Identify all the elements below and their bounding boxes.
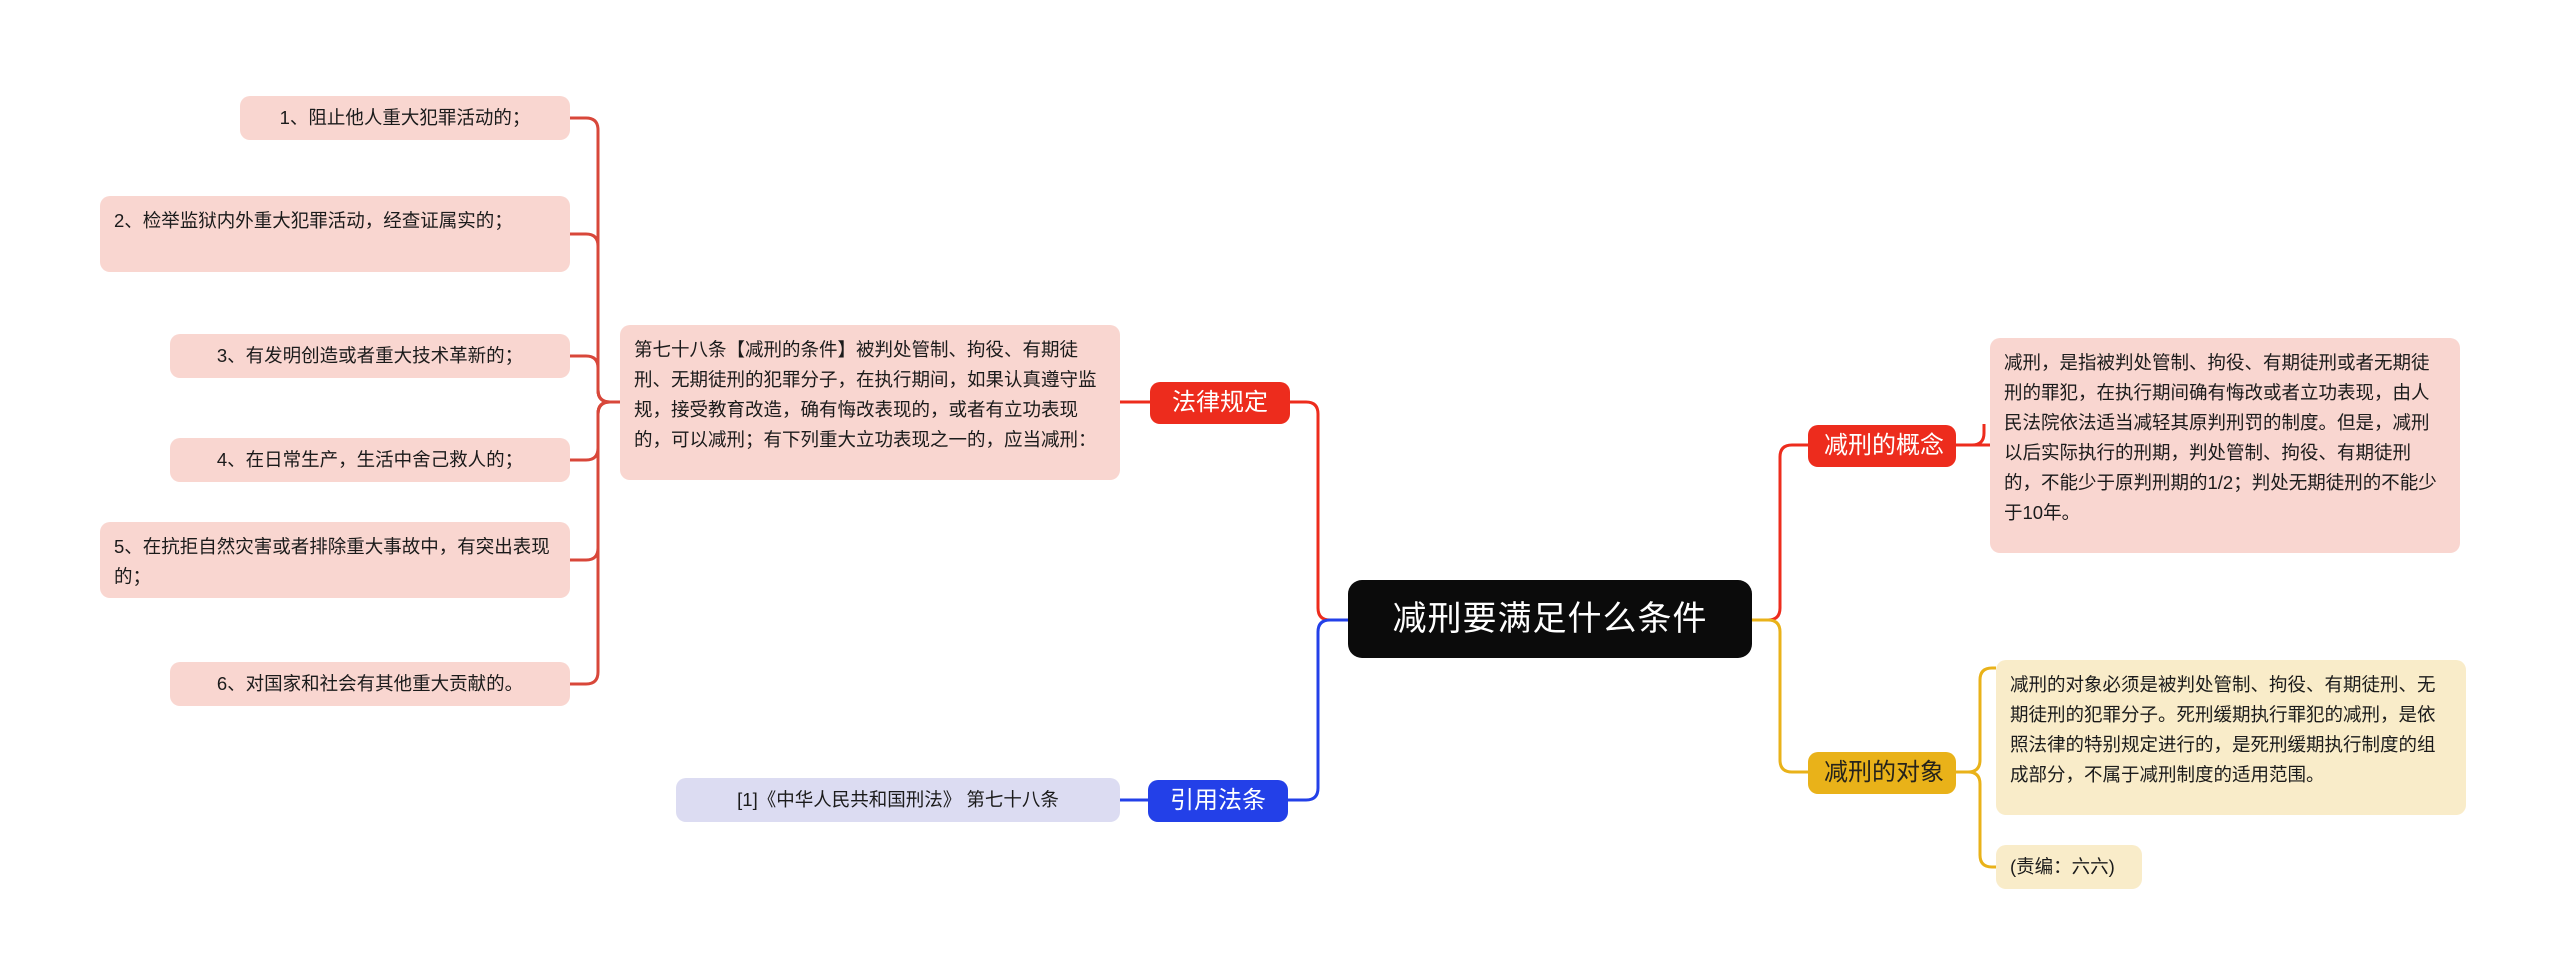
merit-item-5[interactable]: 5、在抗拒自然灾害或者排除重大事故中，有突出表现的； bbox=[100, 522, 570, 598]
citation-item-box[interactable]: [1]《中华人民共和国刑法》 第七十八条 bbox=[676, 778, 1120, 822]
branch-object[interactable]: 减刑的对象 bbox=[1808, 752, 1956, 794]
branch-law-rules-label: 法律规定 bbox=[1166, 387, 1274, 419]
edge-root-to-object bbox=[1752, 620, 1808, 772]
editor-note-text: (责编：六六) bbox=[2010, 852, 2128, 882]
edge-concept-to-concept-text bbox=[1955, 424, 1984, 445]
merit-item-3[interactable]: 3、有发明创造或者重大技术革新的； bbox=[170, 334, 570, 378]
branch-law-rules[interactable]: 法律规定 bbox=[1150, 382, 1290, 424]
branch-concept[interactable]: 减刑的概念 bbox=[1808, 425, 1956, 467]
edge-root-to-concept bbox=[1752, 445, 1808, 620]
merit-item-5-text: 5、在抗拒自然灾害或者排除重大事故中，有突出表现的； bbox=[114, 532, 556, 592]
edge-object-to-object-text bbox=[1955, 668, 1996, 772]
root-node[interactable]: 减刑要满足什么条件 bbox=[1348, 580, 1752, 658]
object-text: 减刑的对象必须是被判处管制、拘役、有期徒刑、无期徒刑的犯罪分子。死刑缓期执行罪犯… bbox=[2010, 670, 2452, 790]
merit-item-2-text: 2、检举监狱内外重大犯罪活动，经查证属实的； bbox=[114, 206, 556, 236]
edge-article-to-merit-3 bbox=[570, 356, 620, 402]
edge-root-to-law-rules bbox=[1290, 402, 1348, 620]
merit-item-2[interactable]: 2、检举监狱内外重大犯罪活动，经查证属实的； bbox=[100, 196, 570, 272]
merit-item-1-text: 1、阻止他人重大犯罪活动的； bbox=[254, 103, 556, 133]
merit-item-3-text: 3、有发明创造或者重大技术革新的； bbox=[184, 341, 556, 371]
root-node-label: 减刑要满足什么条件 bbox=[1370, 597, 1730, 641]
merit-item-6[interactable]: 6、对国家和社会有其他重大贡献的。 bbox=[170, 662, 570, 706]
merit-item-4[interactable]: 4、在日常生产，生活中舍己救人的； bbox=[170, 438, 570, 482]
edge-object-to-editor-note bbox=[1955, 772, 1996, 867]
editor-note-box[interactable]: (责编：六六) bbox=[1996, 845, 2142, 889]
branch-citation-label: 引用法条 bbox=[1164, 785, 1272, 817]
branch-object-label: 减刑的对象 bbox=[1824, 757, 1940, 789]
edge-article-to-merit-2 bbox=[570, 234, 620, 402]
merit-item-1[interactable]: 1、阻止他人重大犯罪活动的； bbox=[240, 96, 570, 140]
edge-article-to-merit-6 bbox=[570, 402, 620, 684]
branch-citation[interactable]: 引用法条 bbox=[1148, 780, 1288, 822]
mindmap-canvas: 减刑要满足什么条件 法律规定 引用法条 减刑的概念 减刑的对象 第七十八条【减刑… bbox=[0, 0, 2560, 962]
concept-text-box[interactable]: 减刑，是指被判处管制、拘役、有期徒刑或者无期徒刑的罪犯，在执行期间确有悔改或者立… bbox=[1990, 338, 2460, 553]
concept-text: 减刑，是指被判处管制、拘役、有期徒刑或者无期徒刑的罪犯，在执行期间确有悔改或者立… bbox=[2004, 348, 2446, 528]
law-article-text: 第七十八条【减刑的条件】被判处管制、拘役、有期徒刑、无期徒刑的犯罪分子，在执行期… bbox=[634, 335, 1106, 455]
merit-item-4-text: 4、在日常生产，生活中舍己救人的； bbox=[184, 445, 556, 475]
object-text-box[interactable]: 减刑的对象必须是被判处管制、拘役、有期徒刑、无期徒刑的犯罪分子。死刑缓期执行罪犯… bbox=[1996, 660, 2466, 815]
edge-article-to-merit-4 bbox=[570, 402, 620, 460]
edge-article-to-merit-5 bbox=[570, 402, 620, 560]
merit-item-6-text: 6、对国家和社会有其他重大贡献的。 bbox=[184, 669, 556, 699]
edge-root-to-citation bbox=[1288, 620, 1348, 800]
law-article-box[interactable]: 第七十八条【减刑的条件】被判处管制、拘役、有期徒刑、无期徒刑的犯罪分子，在执行期… bbox=[620, 325, 1120, 480]
edge-article-to-merit-1 bbox=[570, 118, 620, 402]
citation-item-text: [1]《中华人民共和国刑法》 第七十八条 bbox=[690, 785, 1106, 815]
branch-concept-label: 减刑的概念 bbox=[1824, 430, 1940, 462]
